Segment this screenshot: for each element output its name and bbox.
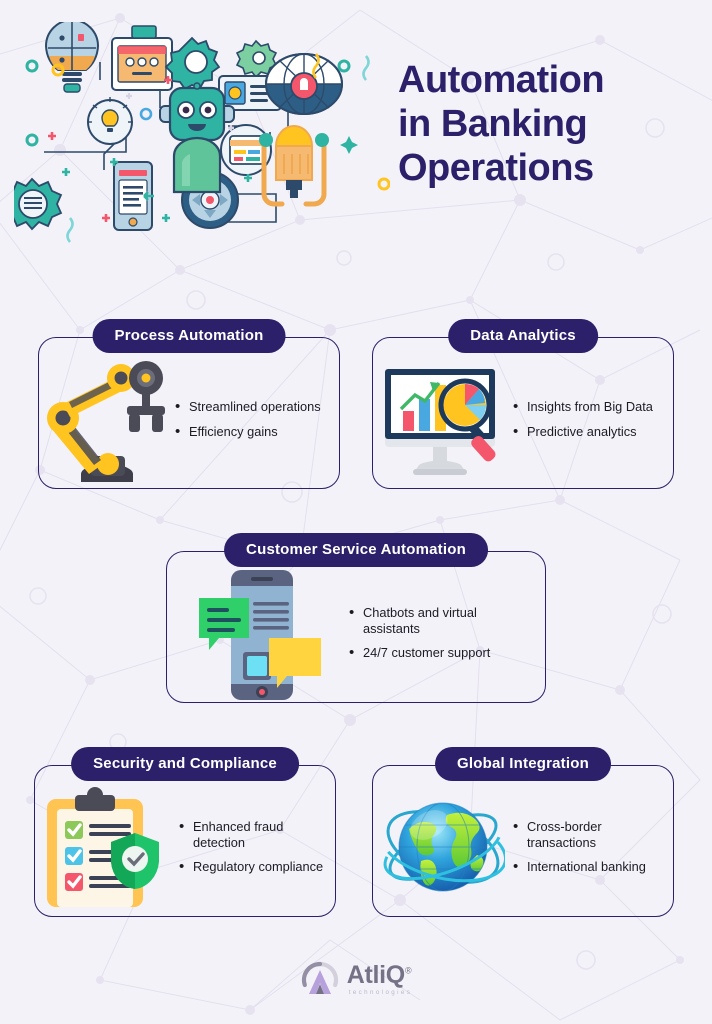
bullet-text: Insights from Big Data [527, 399, 663, 415]
brand-tagline: technologies [349, 990, 413, 996]
page-title-line-3: Operations [398, 146, 698, 190]
page-title-line-1: Automation [398, 58, 698, 102]
gear-icon [166, 38, 219, 89]
card-bullets: • Enhanced fraud detection • Regulatory … [171, 810, 325, 884]
card-bullets: • Insights from Big Data • Predictive an… [505, 390, 663, 448]
card-bullets: • Cross-border transactions • Internatio… [505, 810, 663, 884]
bullet-text: Enhanced fraud detection [193, 819, 325, 850]
list-item: • Streamlined operations [175, 399, 329, 415]
list-item: • 24/7 customer support [349, 645, 535, 661]
card-title-process-automation: Process Automation [93, 319, 286, 353]
card-process-automation: Process Automation [38, 337, 340, 489]
list-item: • International banking [513, 859, 663, 875]
card-bullets: • Chatbots and virtual assistants • 24/7… [327, 596, 535, 670]
list-item: • Enhanced fraud detection [179, 819, 325, 850]
bullet-marker: • [175, 424, 185, 439]
bullet-marker: • [179, 859, 189, 874]
card-body: • Streamlined operations • Efficiency ga… [39, 338, 339, 488]
bullet-marker: • [349, 645, 359, 660]
robot-arm-icon [47, 356, 167, 482]
card-title-customer-service-automation: Customer Service Automation [224, 533, 488, 567]
bullet-marker: • [175, 399, 185, 414]
footer-logo: AtliQ® technologies [0, 952, 712, 1008]
list-item: • Chatbots and virtual assistants [349, 605, 535, 636]
bullet-text: Regulatory compliance [193, 859, 325, 875]
card-data-analytics: Data Analytics [372, 337, 674, 489]
plug-socket-icon [259, 126, 329, 204]
card-body: • Chatbots and virtual assistants • 24/7… [167, 552, 545, 702]
bullet-text: Efficiency gains [189, 424, 329, 440]
bullet-marker: • [513, 399, 523, 414]
clipboard-checklist-shield-icon [43, 783, 171, 911]
lightbulb-brain-icon [46, 22, 98, 92]
card-title-data-analytics: Data Analytics [448, 319, 598, 353]
settings-gear-icon [14, 179, 61, 229]
bullet-marker: • [513, 819, 523, 834]
clipboard-window-icon [112, 26, 172, 90]
monitor-chart-magnifier-icon [381, 361, 505, 477]
bullet-text: Cross-border transactions [527, 819, 663, 850]
registered-mark: ® [405, 966, 411, 976]
smartphone-chat-bubbles-icon [191, 562, 327, 704]
brand-name: AtliQ® [347, 963, 413, 988]
bullet-marker: • [513, 424, 523, 439]
page-title-line-2: in Banking [398, 102, 698, 146]
atliq-arc-a-logo-icon [300, 960, 340, 1000]
card-body: • Cross-border transactions • Internatio… [373, 766, 673, 916]
hero-section: Automation in Banking Operations [0, 0, 712, 262]
card-body: • Enhanced fraud detection • Regulatory … [35, 766, 335, 916]
card-customer-service-automation: Customer Service Automation [166, 551, 546, 703]
list-item: • Efficiency gains [175, 424, 329, 440]
bullet-marker: • [179, 819, 189, 834]
card-security-and-compliance: Security and Compliance [34, 765, 336, 917]
card-bullets: • Streamlined operations • Efficiency ga… [167, 390, 329, 448]
globe-orbit-icon [381, 785, 505, 909]
bullet-text: 24/7 customer support [363, 645, 535, 661]
card-title-global-integration: Global Integration [435, 747, 611, 781]
bullet-text: Predictive analytics [527, 424, 663, 440]
card-title-security-and-compliance: Security and Compliance [71, 747, 299, 781]
logo-text: AtliQ® technologies [347, 963, 413, 996]
brand-name-text: AtliQ [347, 961, 405, 989]
idea-lightbulb-icon [87, 97, 133, 144]
bullet-text: Chatbots and virtual assistants [363, 605, 535, 636]
infographic-page: Automation in Banking Operations Process… [0, 0, 712, 1024]
automation-technology-illustration [14, 22, 390, 244]
list-item: • Predictive analytics [513, 424, 663, 440]
bullet-text: International banking [527, 859, 663, 875]
card-body: • Insights from Big Data • Predictive an… [373, 338, 673, 488]
card-global-integration: Global Integration [372, 765, 674, 917]
bullet-text: Streamlined operations [189, 399, 329, 415]
bullet-marker: • [513, 859, 523, 874]
list-item: • Cross-border transactions [513, 819, 663, 850]
list-item: • Regulatory compliance [179, 859, 325, 875]
list-item: • Insights from Big Data [513, 399, 663, 415]
bullet-marker: • [349, 605, 359, 620]
page-title: Automation in Banking Operations [398, 58, 698, 190]
